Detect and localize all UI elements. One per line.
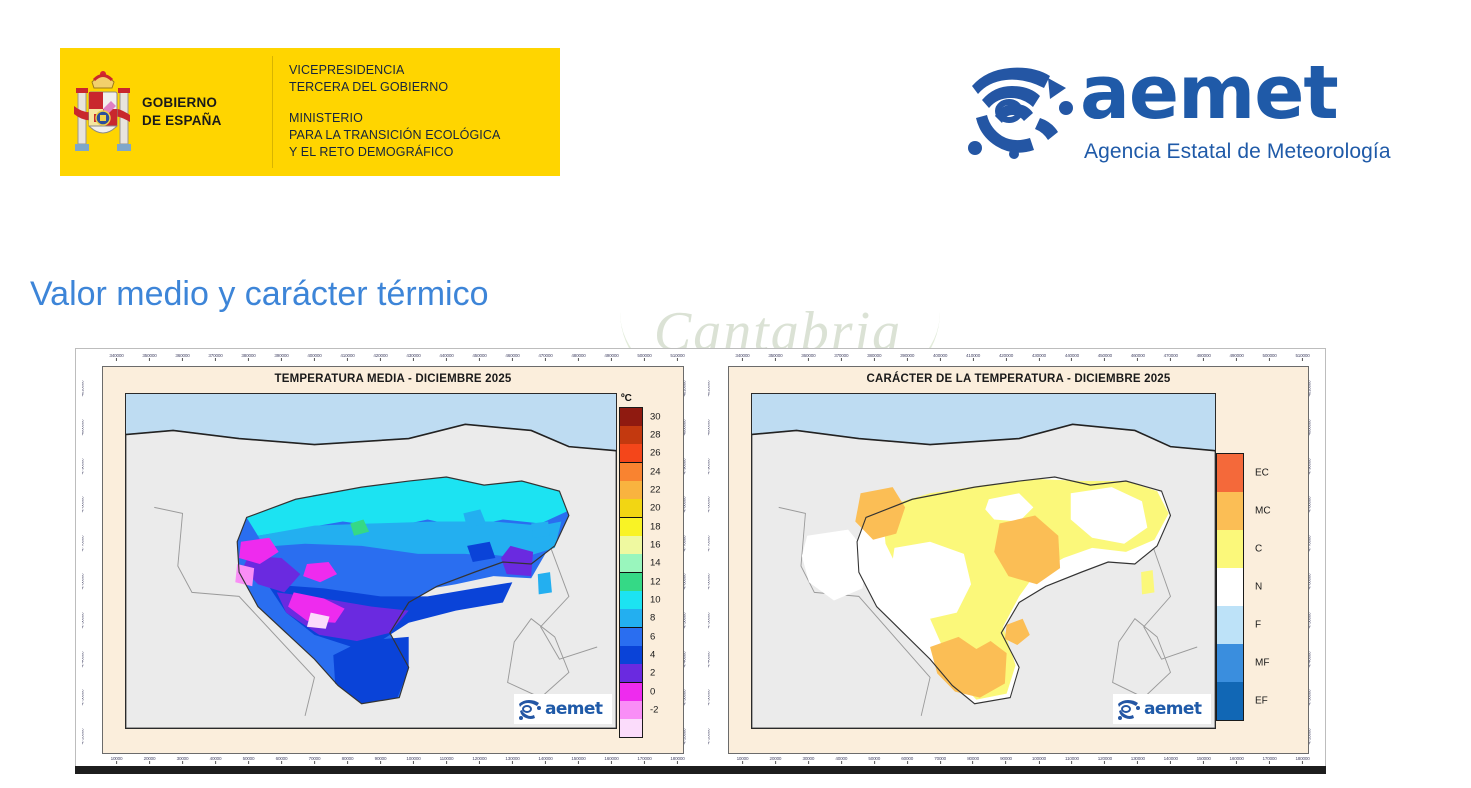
axis-tick: 480000 — [571, 353, 585, 361]
map-panel-caracter-temperatura: 3400003500003600003700003800003900004000… — [704, 351, 1323, 769]
axis-tick: 130000 — [1131, 756, 1145, 764]
ministerio-line-3: Y EL RETO DEMOGRÁFICO — [289, 144, 560, 161]
legend-label: EC — [1255, 468, 1269, 479]
axis-tick: 450000 — [1098, 353, 1112, 361]
legend-swatch: 14 — [620, 554, 642, 572]
axis-tick: 4790000 — [1309, 458, 1312, 474]
legend-label: 12 — [650, 577, 661, 588]
legend-temperatura: ºC 302826242220181614121086420-2 — [619, 393, 677, 738]
axis-tick: 4780000 — [1309, 497, 1312, 513]
gobierno-line-2: DE ESPAÑA — [142, 112, 222, 130]
aemet-logo: aemet Agencia Estatal de Meteorología — [962, 52, 1422, 172]
axis-tick: 500000 — [1263, 353, 1277, 361]
axis-tick: 4780000 — [684, 497, 687, 513]
legend-label: 22 — [650, 485, 661, 496]
axis-tick: 4810000 — [1309, 381, 1312, 397]
axis-tick: 80000 — [342, 756, 354, 764]
axis-top-right-map: 3400003500003600003700003800003900004000… — [726, 353, 1319, 364]
axis-tick: 340000 — [735, 353, 749, 361]
axis-left-left-map: 4810000480000047900004780000477000047600… — [82, 367, 94, 753]
axis-tick: 170000 — [637, 756, 651, 764]
legend-label: -2 — [650, 705, 658, 716]
axis-tick: 4800000 — [1309, 420, 1312, 436]
axis-tick: 60000 — [901, 756, 913, 764]
axis-tick: 440000 — [1065, 353, 1079, 361]
axis-tick: 4730000 — [82, 690, 85, 706]
page-header: GOBIERNO DE ESPAÑA VICEPRESIDENCIA TERCE… — [0, 0, 1471, 200]
axis-tick: 450000 — [472, 353, 486, 361]
axis-tick: 4730000 — [684, 690, 687, 706]
axis-tick: 4740000 — [82, 651, 85, 667]
legend-swatch: 16 — [620, 536, 642, 554]
spain-coat-of-arms-icon — [70, 62, 136, 162]
axis-tick: 4720000 — [1309, 728, 1312, 744]
legend-label: MF — [1255, 658, 1269, 669]
legend-label: 2 — [650, 668, 655, 679]
axis-tick: 4750000 — [82, 613, 85, 629]
axis-tick: 4790000 — [684, 458, 687, 474]
axis-tick: 40000 — [210, 756, 222, 764]
axis-tick: 340000 — [109, 353, 123, 361]
axis-tick: 80000 — [967, 756, 979, 764]
legend-swatch: 0 — [620, 682, 642, 701]
legend-label: 18 — [650, 522, 661, 533]
axis-tick: 40000 — [835, 756, 847, 764]
axis-tick: 470000 — [1164, 353, 1178, 361]
axis-tick: 160000 — [604, 756, 618, 764]
axis-tick: 20000 — [770, 756, 782, 764]
aemet-iberia-swirl-icon — [962, 56, 1080, 160]
aemet-stamp-text-left: aemet — [545, 699, 602, 719]
axis-right-right-map: 4810000480000047900004780000477000047600… — [1309, 367, 1321, 753]
axis-tick: 170000 — [1263, 756, 1277, 764]
axis-tick: 4760000 — [684, 574, 687, 590]
legend-swatch: 2 — [620, 664, 642, 682]
axis-tick: 4730000 — [708, 690, 711, 706]
axis-tick: 410000 — [966, 353, 980, 361]
axis-tick: 370000 — [208, 353, 222, 361]
legend-swatch: 20 — [620, 499, 642, 517]
legend-label: F — [1255, 620, 1261, 631]
legend-swatch: 8 — [620, 609, 642, 627]
axis-tick: 4720000 — [708, 728, 711, 744]
axis-tick: 460000 — [505, 353, 519, 361]
axis-tick: 10000 — [111, 756, 123, 764]
axis-tick: 30000 — [177, 756, 189, 764]
axis-tick: 4760000 — [708, 574, 711, 590]
map-aemet-stamp-right: aemet — [1113, 694, 1211, 724]
map-title-temperatura: TEMPERATURA MEDIA - DICIEMBRE 2025 — [103, 373, 683, 385]
maps-figure: 3400003500003600003700003800003900004000… — [75, 348, 1326, 772]
vicepresidencia-line-2: TERCERA DEL GOBIERNO — [289, 79, 560, 96]
axis-tick: 510000 — [670, 353, 684, 361]
map-plot-temperatura[interactable]: aemet — [125, 393, 617, 729]
legend-label: 4 — [650, 650, 655, 661]
axis-tick: 4740000 — [708, 651, 711, 667]
aemet-stamp-icon-left — [518, 698, 542, 720]
axis-right-left-map: 4810000480000047900004780000477000047600… — [684, 367, 696, 753]
legend-swatch: 10 — [620, 591, 642, 609]
axis-tick: 20000 — [144, 756, 156, 764]
legend-label: 30 — [650, 412, 661, 423]
axis-tick: 420000 — [373, 353, 387, 361]
gobierno-logo-text: GOBIERNO DE ESPAÑA — [142, 94, 222, 130]
axis-tick: 510000 — [1295, 353, 1309, 361]
axis-tick: 4760000 — [1309, 574, 1312, 590]
axis-tick: 410000 — [340, 353, 354, 361]
legend-swatch: 28 — [620, 426, 642, 444]
legend-label: 8 — [650, 613, 655, 624]
legend-swatch: F — [1217, 606, 1243, 644]
axis-tick: 380000 — [241, 353, 255, 361]
aemet-subtitle: Agencia Estatal de Meteorología — [1084, 140, 1391, 164]
legend-label: 24 — [650, 467, 661, 478]
legend-label: N — [1255, 582, 1262, 593]
axis-tick: 180000 — [670, 756, 684, 764]
axis-tick: 4740000 — [1309, 651, 1312, 667]
axis-tick: 4810000 — [82, 381, 85, 397]
axis-tick: 400000 — [307, 353, 321, 361]
legend-swatch: EC — [1217, 454, 1243, 492]
legend-swatch: MF — [1217, 644, 1243, 682]
axis-tick: 120000 — [472, 756, 486, 764]
legend-label: 6 — [650, 632, 655, 643]
axis-tick: 30000 — [802, 756, 814, 764]
gobierno-de-espana-logo: GOBIERNO DE ESPAÑA VICEPRESIDENCIA TERCE… — [60, 48, 560, 176]
ministerio-text-block: VICEPRESIDENCIA TERCERA DEL GOBIERNO MIN… — [273, 48, 560, 176]
axis-tick: 70000 — [309, 756, 321, 764]
axis-tick: 470000 — [538, 353, 552, 361]
legend-label: MC — [1255, 506, 1271, 517]
legend-label: EF — [1255, 696, 1268, 707]
figure-baseline — [75, 766, 1326, 774]
axis-tick: 110000 — [1065, 756, 1079, 764]
page-title: Valor medio y carácter térmico — [30, 275, 489, 314]
axis-tick: 120000 — [1098, 756, 1112, 764]
legend-swatch: 22 — [620, 481, 642, 499]
axis-tick: 4750000 — [708, 613, 711, 629]
vicepresidencia-line-1: VICEPRESIDENCIA — [289, 62, 560, 79]
axis-tick: 160000 — [1230, 756, 1244, 764]
axis-tick: 4750000 — [684, 613, 687, 629]
axis-tick: 50000 — [868, 756, 880, 764]
legend-swatch: MC — [1217, 492, 1243, 530]
axis-tick: 60000 — [276, 756, 288, 764]
axis-tick: 70000 — [934, 756, 946, 764]
axis-tick: 360000 — [175, 353, 189, 361]
legend-label: C — [1255, 544, 1262, 555]
legend-swatch: 30 — [620, 408, 642, 426]
map-title-caracter: CARÁCTER DE LA TEMPERATURA - DICIEMBRE 2… — [729, 373, 1308, 385]
axis-tick: 4740000 — [684, 651, 687, 667]
legend-swatch: N — [1217, 568, 1243, 606]
axis-tick: 4800000 — [708, 420, 711, 436]
axis-tick: 4720000 — [684, 728, 687, 744]
axis-tick: 90000 — [1000, 756, 1012, 764]
legend-swatch: -2 — [620, 701, 642, 719]
axis-tick: 4800000 — [82, 420, 85, 436]
axis-tick: 4800000 — [684, 420, 687, 436]
axis-tick: 140000 — [538, 756, 552, 764]
legend-label: 20 — [650, 503, 661, 514]
axis-tick: 4770000 — [1309, 535, 1312, 551]
axis-tick: 500000 — [637, 353, 651, 361]
legend-swatch: EF — [1217, 682, 1243, 720]
axis-tick: 4760000 — [82, 574, 85, 590]
axis-tick: 490000 — [604, 353, 618, 361]
axis-tick: 390000 — [900, 353, 914, 361]
axis-tick: 430000 — [406, 353, 420, 361]
legend-label: 26 — [650, 448, 661, 459]
axis-tick: 4790000 — [708, 458, 711, 474]
axis-tick: 150000 — [1197, 756, 1211, 764]
map-frame-temperatura: TEMPERATURA MEDIA - DICIEMBRE 2025 — [102, 366, 684, 754]
legend-caracter: ECMCCNFMFEF — [1216, 453, 1300, 721]
legend-label: 10 — [650, 595, 661, 606]
axis-tick: 4730000 — [1309, 690, 1312, 706]
axis-left-right-map: 4810000480000047900004780000477000047600… — [708, 367, 720, 753]
legend-label: 16 — [650, 540, 661, 551]
axis-tick: 480000 — [1197, 353, 1211, 361]
axis-tick: 350000 — [768, 353, 782, 361]
axis-tick: 110000 — [440, 756, 454, 764]
ministerio-line-1: MINISTERIO — [289, 110, 560, 127]
axis-tick: 400000 — [933, 353, 947, 361]
legend-swatch — [620, 719, 642, 737]
axis-tick: 140000 — [1164, 756, 1178, 764]
axis-tick: 90000 — [375, 756, 387, 764]
axis-tick: 4790000 — [82, 458, 85, 474]
axis-tick: 420000 — [999, 353, 1013, 361]
axis-tick: 130000 — [505, 756, 519, 764]
legend-label: 14 — [650, 558, 661, 569]
axis-tick: 370000 — [834, 353, 848, 361]
legend-label: 28 — [650, 430, 661, 441]
legend-swatch: 4 — [620, 646, 642, 664]
axis-top-left-map: 3400003500003600003700003800003900004000… — [100, 353, 694, 364]
axis-tick: 350000 — [142, 353, 156, 361]
axis-tick: 430000 — [1032, 353, 1046, 361]
axis-tick: 4780000 — [708, 497, 711, 513]
gobierno-line-1: GOBIERNO — [142, 94, 222, 112]
legend-swatch: C — [1217, 530, 1243, 568]
legend-label: 0 — [650, 687, 655, 698]
legend-swatch: 6 — [620, 627, 642, 646]
ministerio-line-2: PARA LA TRANSICIÓN ECOLÓGICA — [289, 127, 560, 144]
axis-tick: 100000 — [406, 756, 420, 764]
aemet-stamp-icon-right — [1117, 698, 1141, 720]
legend-swatch: 18 — [620, 517, 642, 536]
axis-tick: 380000 — [867, 353, 881, 361]
legend-swatch: 12 — [620, 572, 642, 591]
axis-tick: 460000 — [1131, 353, 1145, 361]
axis-tick: 10000 — [737, 756, 749, 764]
axis-tick: 4750000 — [1309, 613, 1312, 629]
legend-swatch: 24 — [620, 462, 642, 481]
axis-tick: 440000 — [439, 353, 453, 361]
axis-tick: 360000 — [801, 353, 815, 361]
map-plot-caracter[interactable]: aemet — [751, 393, 1216, 729]
legend-swatch: 26 — [620, 444, 642, 462]
axis-tick: 150000 — [571, 756, 585, 764]
axis-tick: 180000 — [1295, 756, 1309, 764]
axis-tick: 100000 — [1032, 756, 1046, 764]
map-frame-caracter: CARÁCTER DE LA TEMPERATURA - DICIEMBRE 2… — [728, 366, 1309, 754]
axis-tick: 4720000 — [82, 728, 85, 744]
gobierno-logo-left: GOBIERNO DE ESPAÑA — [60, 48, 272, 176]
axis-tick: 4780000 — [82, 497, 85, 513]
axis-tick: 4810000 — [684, 381, 687, 397]
map-panel-temperatura-media: 3400003500003600003700003800003900004000… — [78, 351, 698, 769]
axis-tick: 4770000 — [684, 535, 687, 551]
map-aemet-stamp-left: aemet — [514, 694, 612, 724]
axis-tick: 390000 — [274, 353, 288, 361]
axis-tick: 490000 — [1230, 353, 1244, 361]
axis-tick: 50000 — [243, 756, 255, 764]
axis-tick: 4770000 — [708, 535, 711, 551]
axis-tick: 4770000 — [82, 535, 85, 551]
aemet-wordmark: aemet — [1080, 58, 1338, 128]
axis-tick: 4810000 — [708, 381, 711, 397]
legend-unit-celsius: ºC — [621, 393, 677, 404]
aemet-stamp-text-right: aemet — [1144, 699, 1201, 719]
